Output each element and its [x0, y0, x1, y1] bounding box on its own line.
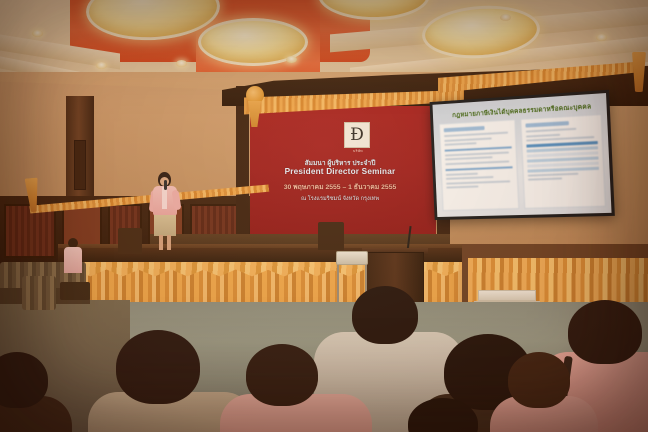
plaque-subtitle: บริษัท: [338, 149, 378, 154]
logo-glyph: Đ: [350, 127, 364, 144]
spot-light-icon: [176, 60, 187, 67]
presenter-speaker: [148, 172, 182, 250]
spot-light-icon: [286, 56, 297, 63]
projector-device: [336, 251, 368, 265]
doc-line: [526, 133, 560, 137]
table-row: [527, 166, 599, 172]
doc-line: [445, 157, 493, 161]
spot-light-icon: [596, 34, 607, 41]
slide-panel-right: [520, 114, 606, 209]
lounge-armchair: [22, 276, 56, 310]
banner-line-location: ณ โรงแรมริชมน์ จังหวัด กรุงเทพ: [250, 195, 430, 203]
doc-line: [445, 151, 509, 156]
audience-member: [496, 352, 588, 432]
audience-member: [0, 352, 72, 432]
attendee-body: [64, 247, 82, 273]
spot-light-icon: [96, 62, 107, 69]
spot-light-icon: [32, 30, 43, 37]
doc-line: [444, 132, 508, 138]
audience-head: [508, 352, 570, 408]
slide-body: [439, 114, 606, 211]
doc-rule: [445, 147, 512, 152]
banner-line-dates: 30 พฤษภาคม 2555 – 1 ธันวาคม 2555: [250, 181, 430, 192]
projection-screen-surface: กฎหมายภาษีเงินได้บุคคลธรรมดาหรือคณะบุคคล: [432, 93, 611, 217]
microphone-icon: [164, 180, 167, 190]
audience-head: [0, 352, 48, 408]
wall-slat-panel: [4, 204, 56, 258]
company-logo-plaque: Đ: [344, 122, 370, 148]
projection-screen: กฎหมายภาษีเงินได้บุคคลธรรมดาหรือคณะบุคคล: [430, 90, 615, 220]
wooden-chair: [118, 228, 142, 254]
wall-column-inset: [74, 140, 86, 190]
doc-line: [528, 178, 562, 181]
stage-step: [478, 290, 536, 301]
audience-head: [246, 344, 318, 406]
doc-line: [528, 172, 579, 176]
doc-title-bar: [444, 126, 485, 132]
presenter-skirt: [154, 215, 176, 236]
spot-light-icon: [500, 14, 511, 21]
doc-line: [446, 172, 478, 175]
doc-line: [444, 137, 492, 142]
banner-line-english-title: President Director Seminar: [250, 167, 430, 176]
doc-line: [446, 180, 510, 184]
presenter-leg: [159, 235, 163, 250]
doc-line: [446, 176, 494, 180]
presenter-leg: [167, 235, 171, 250]
doc-line: [445, 160, 509, 165]
doc-line: [526, 128, 577, 133]
slide-panel-left: [439, 119, 519, 211]
audience-member: [232, 344, 360, 432]
audience-head: [408, 398, 478, 432]
doc-line: [446, 186, 478, 189]
conference-hall-photo: Đ บริษัท สัมมนา ผู้บริหาร ประจำปี Presid…: [0, 0, 648, 432]
doc-title-bar: [525, 121, 569, 128]
audience-member: [392, 398, 496, 432]
wooden-chair: [318, 222, 344, 250]
doc-rule: [446, 166, 513, 170]
standing-attendee: [64, 238, 82, 272]
side-table: [60, 282, 90, 300]
doc-line: [444, 142, 476, 146]
audience-head: [352, 286, 418, 344]
presenter-lapel: [162, 187, 167, 209]
audience-head: [116, 330, 200, 404]
